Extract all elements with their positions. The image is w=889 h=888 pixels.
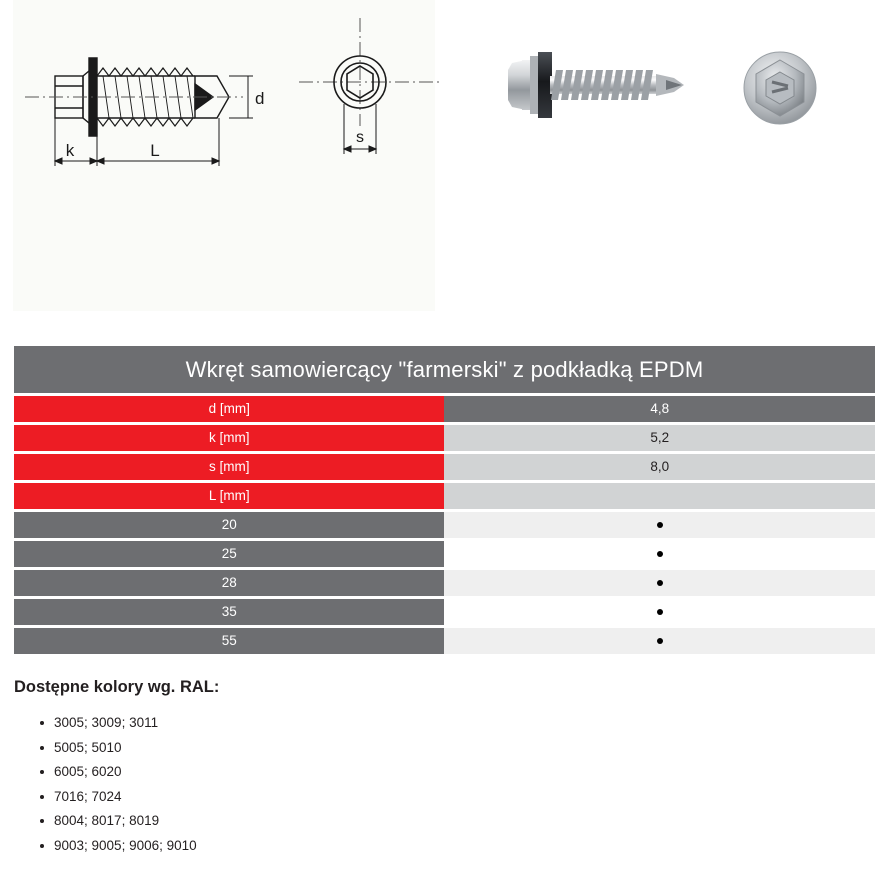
ral-colors-section: Dostępne kolory wg. RAL: 3005; 3009; 301… bbox=[14, 678, 614, 858]
availability-dot-icon bbox=[657, 638, 663, 644]
list-item: 8004; 8017; 8019 bbox=[40, 809, 614, 834]
length-label-55: 55 bbox=[14, 628, 444, 654]
table-row: 25 bbox=[14, 541, 875, 567]
availability-dot-icon bbox=[657, 609, 663, 615]
spec-label-s: s [mm] bbox=[14, 454, 444, 480]
product-photo-top-view bbox=[734, 42, 826, 134]
length-availability-35 bbox=[444, 599, 875, 625]
length-availability-55 bbox=[444, 628, 875, 654]
dimension-label-L: L bbox=[150, 141, 159, 160]
length-label-28: 28 bbox=[14, 570, 444, 596]
length-label-20: 20 bbox=[14, 512, 444, 538]
length-availability-25 bbox=[444, 541, 875, 567]
page-title: Wkręt samowiercący "farmerski" z podkład… bbox=[14, 346, 875, 393]
ral-colors-heading: Dostępne kolory wg. RAL: bbox=[14, 678, 614, 697]
table-row: s [mm] 8,0 bbox=[14, 454, 875, 480]
technical-drawing-side-view: d k L bbox=[17, 14, 287, 184]
spec-label-d: d [mm] bbox=[14, 396, 444, 422]
product-photos-panel bbox=[440, 0, 889, 311]
product-media-strip: d k L s bbox=[0, 0, 889, 330]
table-row: 55 bbox=[14, 628, 875, 654]
list-item: 7016; 7024 bbox=[40, 785, 614, 810]
spec-value-d: 4,8 bbox=[444, 396, 875, 422]
table-row: 20 bbox=[14, 512, 875, 538]
technical-drawing-front-view: s bbox=[295, 14, 447, 174]
technical-drawings-panel: d k L s bbox=[13, 0, 435, 311]
spec-table-body: Wkręt samowiercący "farmerski" z podkład… bbox=[14, 346, 875, 654]
length-availability-28 bbox=[444, 570, 875, 596]
spec-value-L bbox=[444, 483, 875, 509]
list-item: 6005; 6020 bbox=[40, 760, 614, 785]
dimension-label-k: k bbox=[66, 141, 75, 160]
table-row: 35 bbox=[14, 599, 875, 625]
availability-dot-icon bbox=[657, 551, 663, 557]
spec-label-L: L [mm] bbox=[14, 483, 444, 509]
spec-value-s: 8,0 bbox=[444, 454, 875, 480]
ral-colors-list: 3005; 3009; 3011 5005; 5010 6005; 6020 7… bbox=[14, 711, 614, 858]
table-row: d [mm] 4,8 bbox=[14, 396, 875, 422]
table-row: L [mm] bbox=[14, 483, 875, 509]
list-item: 3005; 3009; 3011 bbox=[40, 711, 614, 736]
dimension-label-d: d bbox=[255, 89, 264, 108]
spec-label-k: k [mm] bbox=[14, 425, 444, 451]
availability-dot-icon bbox=[657, 522, 663, 528]
length-availability-20 bbox=[444, 512, 875, 538]
product-photo-side-view bbox=[460, 30, 700, 140]
spec-value-k: 5,2 bbox=[444, 425, 875, 451]
table-title-row: Wkręt samowiercący "farmerski" z podkład… bbox=[14, 346, 875, 393]
list-item: 9003; 9005; 9006; 9010 bbox=[40, 834, 614, 859]
specification-table: Wkręt samowiercący "farmerski" z podkład… bbox=[14, 343, 875, 657]
length-label-25: 25 bbox=[14, 541, 444, 567]
table-row: 28 bbox=[14, 570, 875, 596]
list-item: 5005; 5010 bbox=[40, 736, 614, 761]
dimension-label-s: s bbox=[356, 129, 364, 146]
length-label-35: 35 bbox=[14, 599, 444, 625]
table-row: k [mm] 5,2 bbox=[14, 425, 875, 451]
availability-dot-icon bbox=[657, 580, 663, 586]
